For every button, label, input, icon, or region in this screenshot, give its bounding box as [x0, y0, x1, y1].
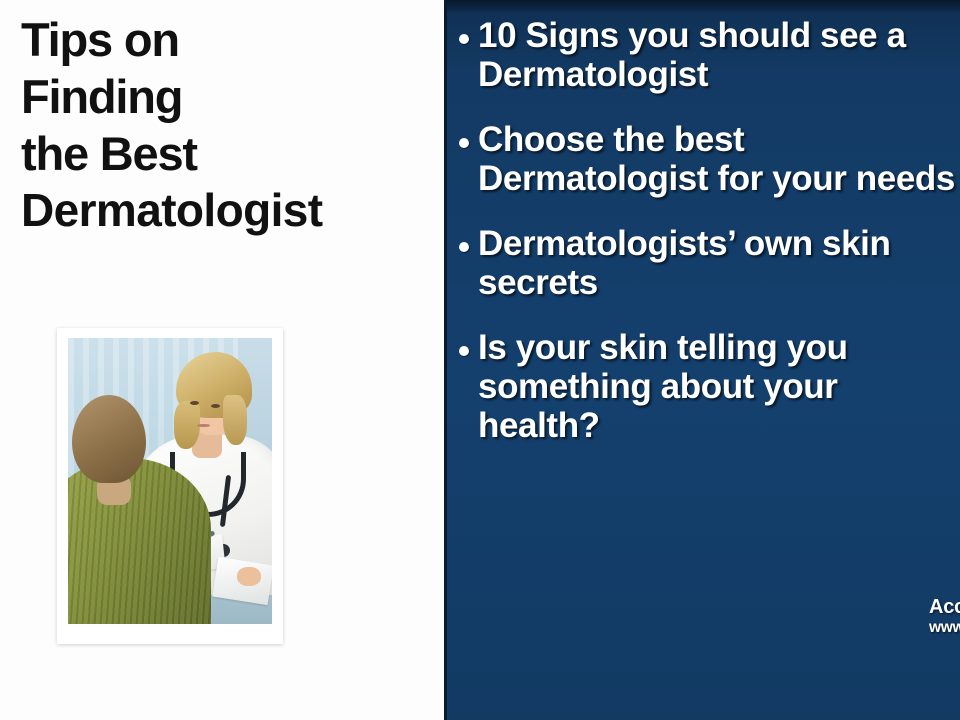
- bullet-dot-icon: [459, 34, 469, 44]
- slide-canvas: Tips on Finding the Best Dermatologist: [0, 0, 960, 720]
- footer-cta: Access the Free Guide at www.ScottsdaleD…: [929, 598, 960, 637]
- bullet-dot-icon: [459, 138, 469, 148]
- bullet-text-4: Is your skin telling you something about…: [478, 328, 959, 445]
- patient-head: [72, 395, 146, 483]
- photo-image: [68, 338, 272, 624]
- bullet-list: 10 Signs you should see a Dermatologist …: [459, 16, 959, 471]
- bullet-text-3: Dermatologists’ own skin secrets: [478, 224, 959, 302]
- title-line-3: the Best: [21, 125, 433, 182]
- photo-frame: [57, 328, 283, 644]
- left-panel: Tips on Finding the Best Dermatologist: [0, 0, 444, 720]
- bullet-panel: 10 Signs you should see a Dermatologist …: [444, 0, 960, 720]
- list-item: Dermatologists’ own skin secrets: [459, 224, 959, 302]
- list-item: Choose the best Dermatologist for your n…: [459, 120, 959, 198]
- patient-hand: [237, 567, 261, 586]
- bullet-dot-icon: [459, 346, 469, 356]
- doctor-hair-right: [223, 395, 247, 445]
- footer-access-line: Access the Free Guide at: [929, 598, 960, 618]
- bullet-text-1: 10 Signs you should see a Dermatologist: [478, 16, 959, 94]
- doctor-mouth: [197, 424, 210, 427]
- bullet-text-2: Choose the best Dermatologist for your n…: [478, 120, 959, 198]
- list-item: Is your skin telling you something about…: [459, 328, 959, 445]
- patient-sweater: [68, 458, 211, 624]
- footer-access-word: Access: [929, 596, 960, 618]
- doctor-eye-right: [211, 404, 220, 408]
- page-title: Tips on Finding the Best Dermatologist: [21, 11, 433, 239]
- title-line-2: Finding: [21, 68, 433, 125]
- consultation-photo: [57, 328, 285, 652]
- list-item: 10 Signs you should see a Dermatologist: [459, 16, 959, 94]
- title-line-1: Tips on: [21, 11, 433, 68]
- bullet-dot-icon: [459, 242, 469, 252]
- title-line-4: Dermatologist: [21, 182, 433, 239]
- footer-url[interactable]: www.ScottsdaleDermotologyExperts.com: [929, 618, 960, 637]
